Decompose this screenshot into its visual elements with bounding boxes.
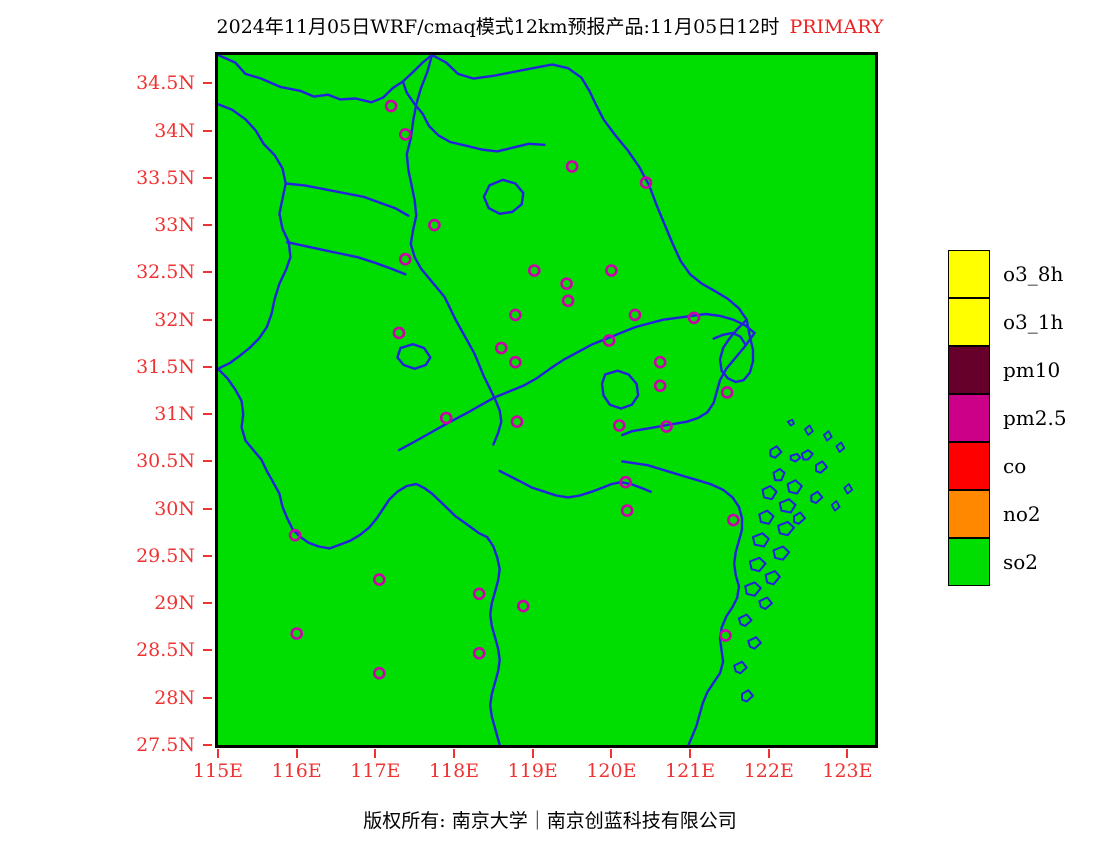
lon-tick-label: 121E (650, 760, 730, 782)
legend-swatch (948, 394, 990, 442)
lon-tick-mark (217, 749, 219, 758)
lon-tick-mark (453, 749, 455, 758)
lat-tick-mark (203, 460, 212, 462)
lat-tick-mark (203, 271, 212, 273)
legend-label: no2 (1003, 502, 1041, 526)
lat-tick-mark (203, 508, 212, 510)
lat-tick-label: 34N (60, 120, 195, 142)
lon-tick-label: 115E (178, 760, 258, 782)
legend-label: o3_8h (1003, 262, 1063, 286)
copyright-notice: 版权所有: 南京大学｜南京创蓝科技有限公司 (0, 806, 1100, 833)
lat-tick-label: 32.5N (60, 261, 195, 283)
legend-label: pm2.5 (1003, 406, 1067, 430)
lat-tick-mark (203, 319, 212, 321)
lat-tick-label: 34.5N (60, 72, 195, 94)
legend-swatch (948, 298, 990, 346)
lon-tick-label: 123E (807, 760, 887, 782)
lat-tick-mark (203, 366, 212, 368)
lat-tick-label: 29.5N (60, 545, 195, 567)
title-main-text: 2024年11月05日WRF/cmaq模式12km预报产品:11月05日12时 (217, 16, 780, 38)
lon-tick-label: 119E (493, 760, 573, 782)
lat-tick-mark (203, 555, 212, 557)
lat-tick-label: 31.5N (60, 356, 195, 378)
lat-tick-mark (203, 224, 212, 226)
lon-tick-mark (768, 749, 770, 758)
legend-swatch (948, 538, 990, 586)
legend-swatch (948, 442, 990, 490)
map-background (218, 55, 875, 745)
lat-tick-label: 30N (60, 498, 195, 520)
lon-tick-mark (846, 749, 848, 758)
legend-swatch (948, 346, 990, 394)
lat-tick-label: 27.5N (60, 734, 195, 756)
lat-tick-label: 30.5N (60, 450, 195, 472)
title-primary-badge: PRIMARY (779, 16, 883, 38)
lon-tick-mark (689, 749, 691, 758)
lat-tick-label: 33.5N (60, 167, 195, 189)
lat-tick-mark (203, 82, 212, 84)
legend-label: o3_1h (1003, 310, 1063, 334)
lon-tick-label: 118E (414, 760, 494, 782)
lat-tick-mark (203, 602, 212, 604)
lat-tick-mark (203, 130, 212, 132)
lat-tick-label: 28N (60, 687, 195, 709)
legend-label: pm10 (1003, 358, 1060, 382)
lon-tick-label: 117E (335, 760, 415, 782)
lat-tick-label: 32N (60, 309, 195, 331)
legend-swatch (948, 490, 990, 538)
lon-tick-mark (374, 749, 376, 758)
lat-tick-label: 31N (60, 403, 195, 425)
lat-tick-mark (203, 177, 212, 179)
lat-tick-label: 28.5N (60, 639, 195, 661)
page-title: 2024年11月05日WRF/cmaq模式12km预报产品:11月05日12时P… (0, 12, 1100, 40)
lon-tick-mark (296, 749, 298, 758)
lat-tick-mark (203, 649, 212, 651)
lat-tick-mark (203, 744, 212, 746)
lon-tick-label: 116E (257, 760, 337, 782)
lon-tick-label: 122E (729, 760, 809, 782)
map-vector-layer (218, 55, 875, 745)
legend-swatch (948, 250, 990, 298)
lon-tick-mark (610, 749, 612, 758)
lat-tick-mark (203, 413, 212, 415)
lon-tick-label: 120E (571, 760, 651, 782)
lat-tick-mark (203, 697, 212, 699)
legend-label: so2 (1003, 550, 1038, 574)
legend-label: co (1003, 454, 1026, 478)
lat-tick-label: 29N (60, 592, 195, 614)
lat-tick-label: 33N (60, 214, 195, 236)
forecast-map[interactable] (215, 52, 878, 748)
lon-tick-mark (532, 749, 534, 758)
